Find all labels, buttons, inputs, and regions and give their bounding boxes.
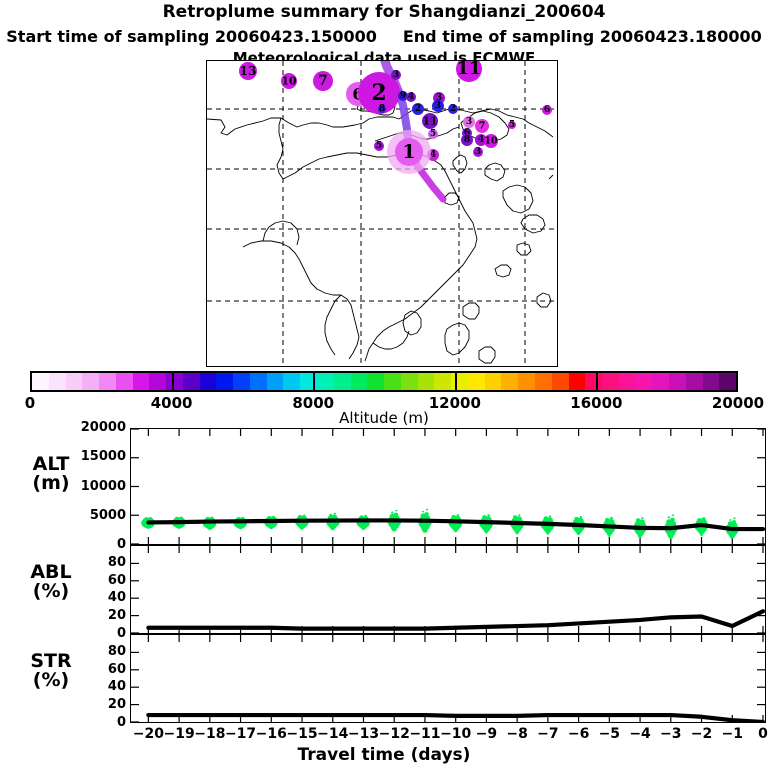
colorbar-cell [317,373,334,390]
plume-marker-label: 7 [318,73,327,89]
colorbar-cell [250,373,267,390]
colorbar-cell [619,373,636,390]
colorbar-cell [32,373,49,390]
page-title: Retroplume summary for Shangdianzi_20060… [0,2,768,22]
colorbar-cell [367,373,384,390]
colorbar-separator [596,371,598,392]
plume-marker-label: 11 [422,115,437,128]
plume-marker-label: 2 [450,104,456,114]
colorbar-cell [468,373,485,390]
plume-marker-label: 11 [457,60,481,79]
plume-marker-label: 4 [408,92,414,102]
sampling-times: Start time of sampling 20060423.150000En… [0,27,768,46]
colorbar-cell [351,373,368,390]
colorbar-cell [149,373,166,390]
colorbar-cell [719,373,736,390]
colorbar-cell [518,373,535,390]
plume-marker-label: 3 [393,70,399,80]
y-tick-label: 0 [60,626,126,641]
colorbar-cell [166,373,183,390]
colorbar-cell [66,373,83,390]
y-tick-label: 20000 [60,420,126,435]
colorbar-cell [49,373,66,390]
colorbar-cell [99,373,116,390]
plume-marker-label: 1 [402,141,415,163]
colorbar-cell [116,373,133,390]
y-tick-label: 20 [60,608,126,623]
colorbar-cell [267,373,284,390]
y-tick-label: 15000 [60,449,126,464]
str-plot [131,635,765,722]
colorbar-separator [455,371,457,392]
alt-plot [131,429,765,544]
colorbar-cell [485,373,502,390]
y-tick-label: 40 [60,679,126,694]
colorbar-cell [652,373,669,390]
colorbar-cell [418,373,435,390]
colorbar-cell [552,373,569,390]
colorbar-cell [602,373,619,390]
str-panel[interactable] [130,634,766,723]
end-time-label: End time of sampling 20060423.180000 [403,27,762,46]
colorbar-cell [501,373,518,390]
y-tick-label: 0 [60,715,126,730]
colorbar-cell [216,373,233,390]
colorbar-cell [686,373,703,390]
y-tick-label: 5000 [60,508,126,523]
abl-panel[interactable] [130,545,766,634]
colorbar-cell [283,373,300,390]
colorbar-cell [401,373,418,390]
x-axis-label: Travel time (days) [0,745,768,765]
plume-marker-label: 5 [430,129,436,139]
colorbar-cell [384,373,401,390]
plume-marker-label: 8 [464,135,470,145]
plume-marker-label: 6 [544,105,550,115]
y-tick-label: 60 [60,662,126,677]
colorbar-separator [172,371,174,392]
start-time-label: Start time of sampling 20060423.150000 [6,27,377,46]
alt-panel[interactable] [130,428,766,545]
colorbar-cell [636,373,653,390]
y-tick-label: 60 [60,573,126,588]
colorbar-cell [334,373,351,390]
plume-marker-label: 3 [475,147,481,157]
colorbar-separator [313,371,315,392]
altitude-colorbar[interactable] [30,371,738,392]
colorbar-cell [200,373,217,390]
colorbar-cell [82,373,99,390]
plume-marker-label: 13 [240,64,257,78]
colorbar-cell [133,373,150,390]
y-tick-label: 40 [60,590,126,605]
colorbar-cell [569,373,586,390]
plume-marker-label: 10 [281,75,296,88]
plume-marker-label: 2 [415,104,421,114]
colorbar-cell [703,373,720,390]
plume-marker-label: 3 [435,101,441,111]
plume-marker-label: 3 [466,117,472,127]
retroplume-map[interactable]: 131076211394823326115375684103541 [206,60,558,367]
plume-marker-label: 5 [509,120,515,130]
colorbar-cell [535,373,552,390]
colorbar-cell [451,373,468,390]
colorbar-cell [233,373,250,390]
y-tick-label: 0 [60,537,126,552]
plume-marker-label: 7 [479,121,486,132]
y-tick-label: 10000 [60,479,126,494]
y-tick-label: 80 [60,644,126,659]
plume-marker-label: 8 [379,104,385,114]
plume-marker-label: 5 [376,141,382,151]
abl-plot [131,546,765,633]
colorbar-cell [434,373,451,390]
colorbar-cell [669,373,686,390]
colorbar-cell [585,373,602,390]
plume-marker-label: 2 [371,80,386,106]
y-tick-label: 20 [60,697,126,712]
plume-marker-label: 10 [484,136,497,147]
x-tick-label: 0 [738,726,768,742]
colorbar-cell [183,373,200,390]
y-tick-label: 80 [60,555,126,570]
